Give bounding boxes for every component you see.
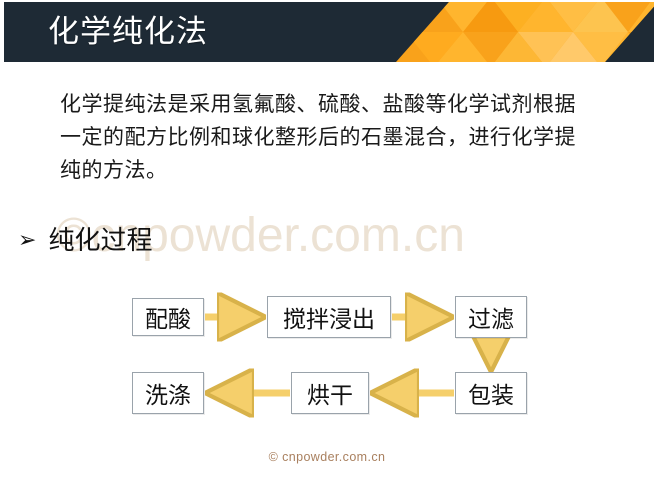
flow-node-guolv[interactable]: 过滤 <box>455 296 527 338</box>
flow-node-peisuan[interactable]: 配酸 <box>132 298 204 336</box>
flow-arrows <box>0 0 654 491</box>
flow-node-baozhuang[interactable]: 包装 <box>455 372 527 414</box>
footer-copyright: © cnpowder.com.cn <box>0 450 654 464</box>
slide-canvas: 化学纯化法 化学提纯法是采用氢氟酸、硫酸、盐酸等化学试剂根据一定的配方比例和球化… <box>0 0 654 491</box>
process-flowchart: 配酸 搅拌浸出 过滤 包装 烘干 洗涤 <box>0 0 654 491</box>
flow-node-jiaobanjinchu[interactable]: 搅拌浸出 <box>267 296 391 338</box>
flow-node-hongan[interactable]: 烘干 <box>291 372 369 414</box>
flow-node-xidi[interactable]: 洗涤 <box>132 372 204 414</box>
